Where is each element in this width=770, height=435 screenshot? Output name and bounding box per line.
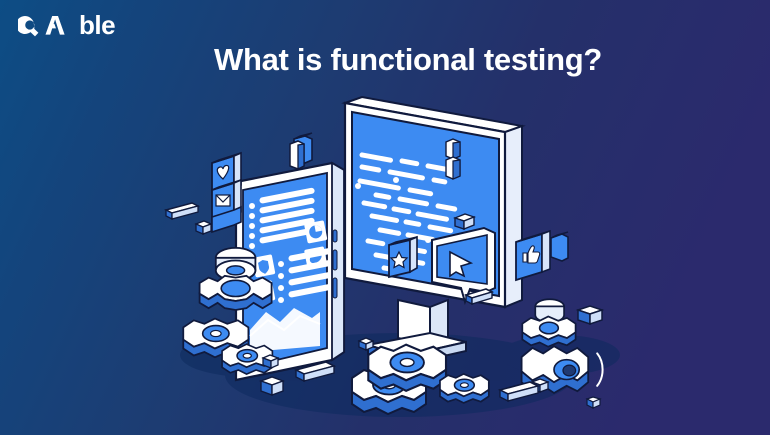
- gear-center-front: [368, 345, 446, 391]
- cube-f: [587, 397, 600, 408]
- page-title: What is functional testing?: [0, 42, 770, 78]
- cube-d: [578, 306, 602, 324]
- card-stub-right: [551, 232, 568, 261]
- post-left: [290, 141, 304, 169]
- cube-a: [359, 338, 373, 350]
- gear-cylinder: [216, 248, 256, 280]
- cube-b: [263, 355, 278, 368]
- gear-center-small: [440, 374, 489, 403]
- floating-cube-left: [196, 221, 211, 234]
- qable-logo-icon: [18, 10, 78, 40]
- envelope-icon: [216, 195, 230, 206]
- tablet-side-buttons: [333, 230, 337, 298]
- banner-root: ble What is functional testing?: [0, 0, 770, 435]
- cube-c: [261, 377, 283, 395]
- brand-logo-text: ble: [79, 12, 115, 38]
- gear-teeth-ring: [200, 276, 272, 310]
- post-right-a: [446, 139, 460, 159]
- post-right-b: [446, 157, 460, 179]
- floating-cube-monitor: [455, 214, 474, 229]
- brand-logo[interactable]: ble: [18, 10, 115, 40]
- star-card: [389, 237, 417, 277]
